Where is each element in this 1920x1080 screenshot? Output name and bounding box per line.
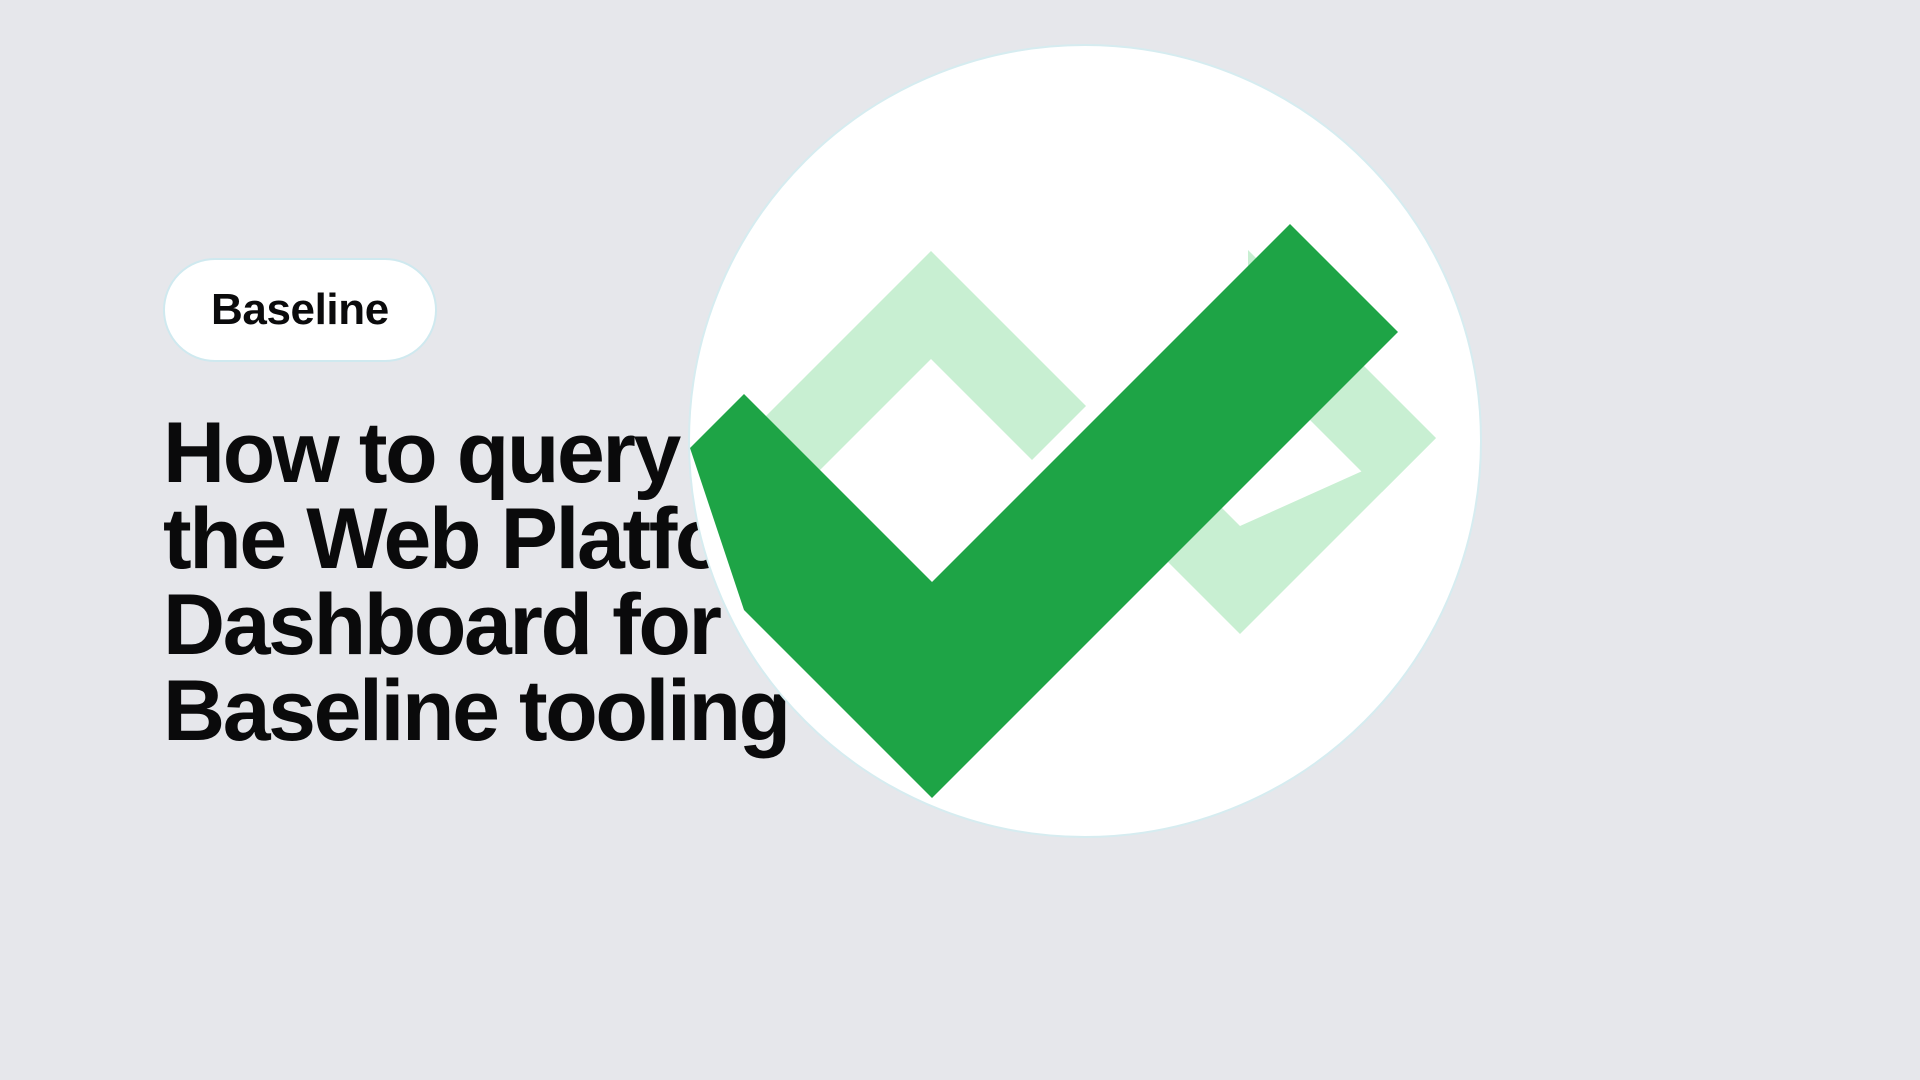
baseline-logo-icon [688,44,1482,838]
baseline-badge-label: Baseline [211,288,389,332]
baseline-logo-disc [688,44,1482,838]
social-card: Baseline How to query the Web Platform D… [0,0,1920,1080]
baseline-badge: Baseline [163,258,437,362]
